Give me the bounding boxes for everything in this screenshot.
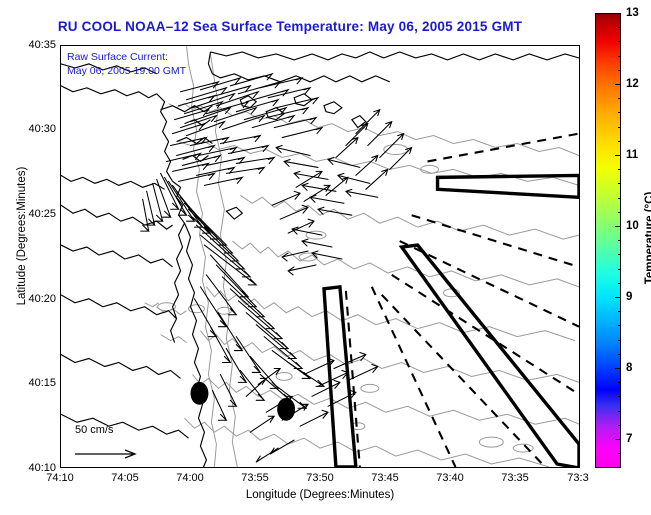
station-marker-1 (191, 382, 209, 405)
xtick-5: 73:45 (371, 472, 399, 484)
colorbar-label-8: 8 (626, 362, 632, 374)
colorbar-label-10: 10 (626, 220, 639, 232)
sst-map-figure: RU COOL NOAA–12 Sea Surface Temperature:… (0, 0, 651, 515)
annotation-line-2: May 06, 2005 19:00 GMT (67, 64, 186, 78)
figure-title: RU COOL NOAA–12 Sea Surface Temperature:… (0, 19, 580, 34)
map-graphics (61, 46, 579, 467)
ytick-0: 40:35 (16, 39, 56, 51)
colorbar-title: Temperature (°C) (644, 148, 651, 328)
scale-legend-label: 50 cm/s (75, 424, 114, 436)
coastline (61, 52, 579, 467)
raw-surface-current-annotation: Raw Surface Current: May 06, 2005 19:00 … (67, 50, 186, 78)
annotation-line-1: Raw Surface Current: (67, 50, 186, 64)
scale-arrow-icon (73, 446, 153, 462)
xtick-3: 73:55 (241, 472, 269, 484)
vector-scale-legend: 50 cm/s (69, 424, 179, 464)
station-marker-2 (277, 398, 295, 421)
colorbar-label-9: 9 (626, 291, 632, 303)
y-axis-label: Latitude (Degrees:Minutes) (16, 121, 28, 351)
xtick-1: 74:05 (111, 472, 139, 484)
colorbar-tick-marks (595, 13, 621, 468)
colorbar-label-13: 13 (626, 7, 639, 19)
xtick-4: 73:50 (306, 472, 334, 484)
xtick-7: 73:35 (501, 472, 529, 484)
colorbar-label-7: 7 (626, 433, 632, 445)
xtick-2: 74:00 (176, 472, 204, 484)
ytick-5: 40:10 (16, 462, 56, 474)
colorbar-label-12: 12 (626, 78, 639, 90)
surface-current-vectors (141, 74, 412, 462)
ytick-4: 40:15 (16, 377, 56, 389)
colorbar-label-11: 11 (626, 149, 638, 161)
xtick-8: 73:3 (567, 472, 588, 484)
map-plot-area: Raw Surface Current: May 06, 2005 19:00 … (60, 45, 580, 468)
xtick-6: 73:40 (436, 472, 464, 484)
x-axis-label: Longitude (Degrees:Minutes) (60, 489, 580, 501)
